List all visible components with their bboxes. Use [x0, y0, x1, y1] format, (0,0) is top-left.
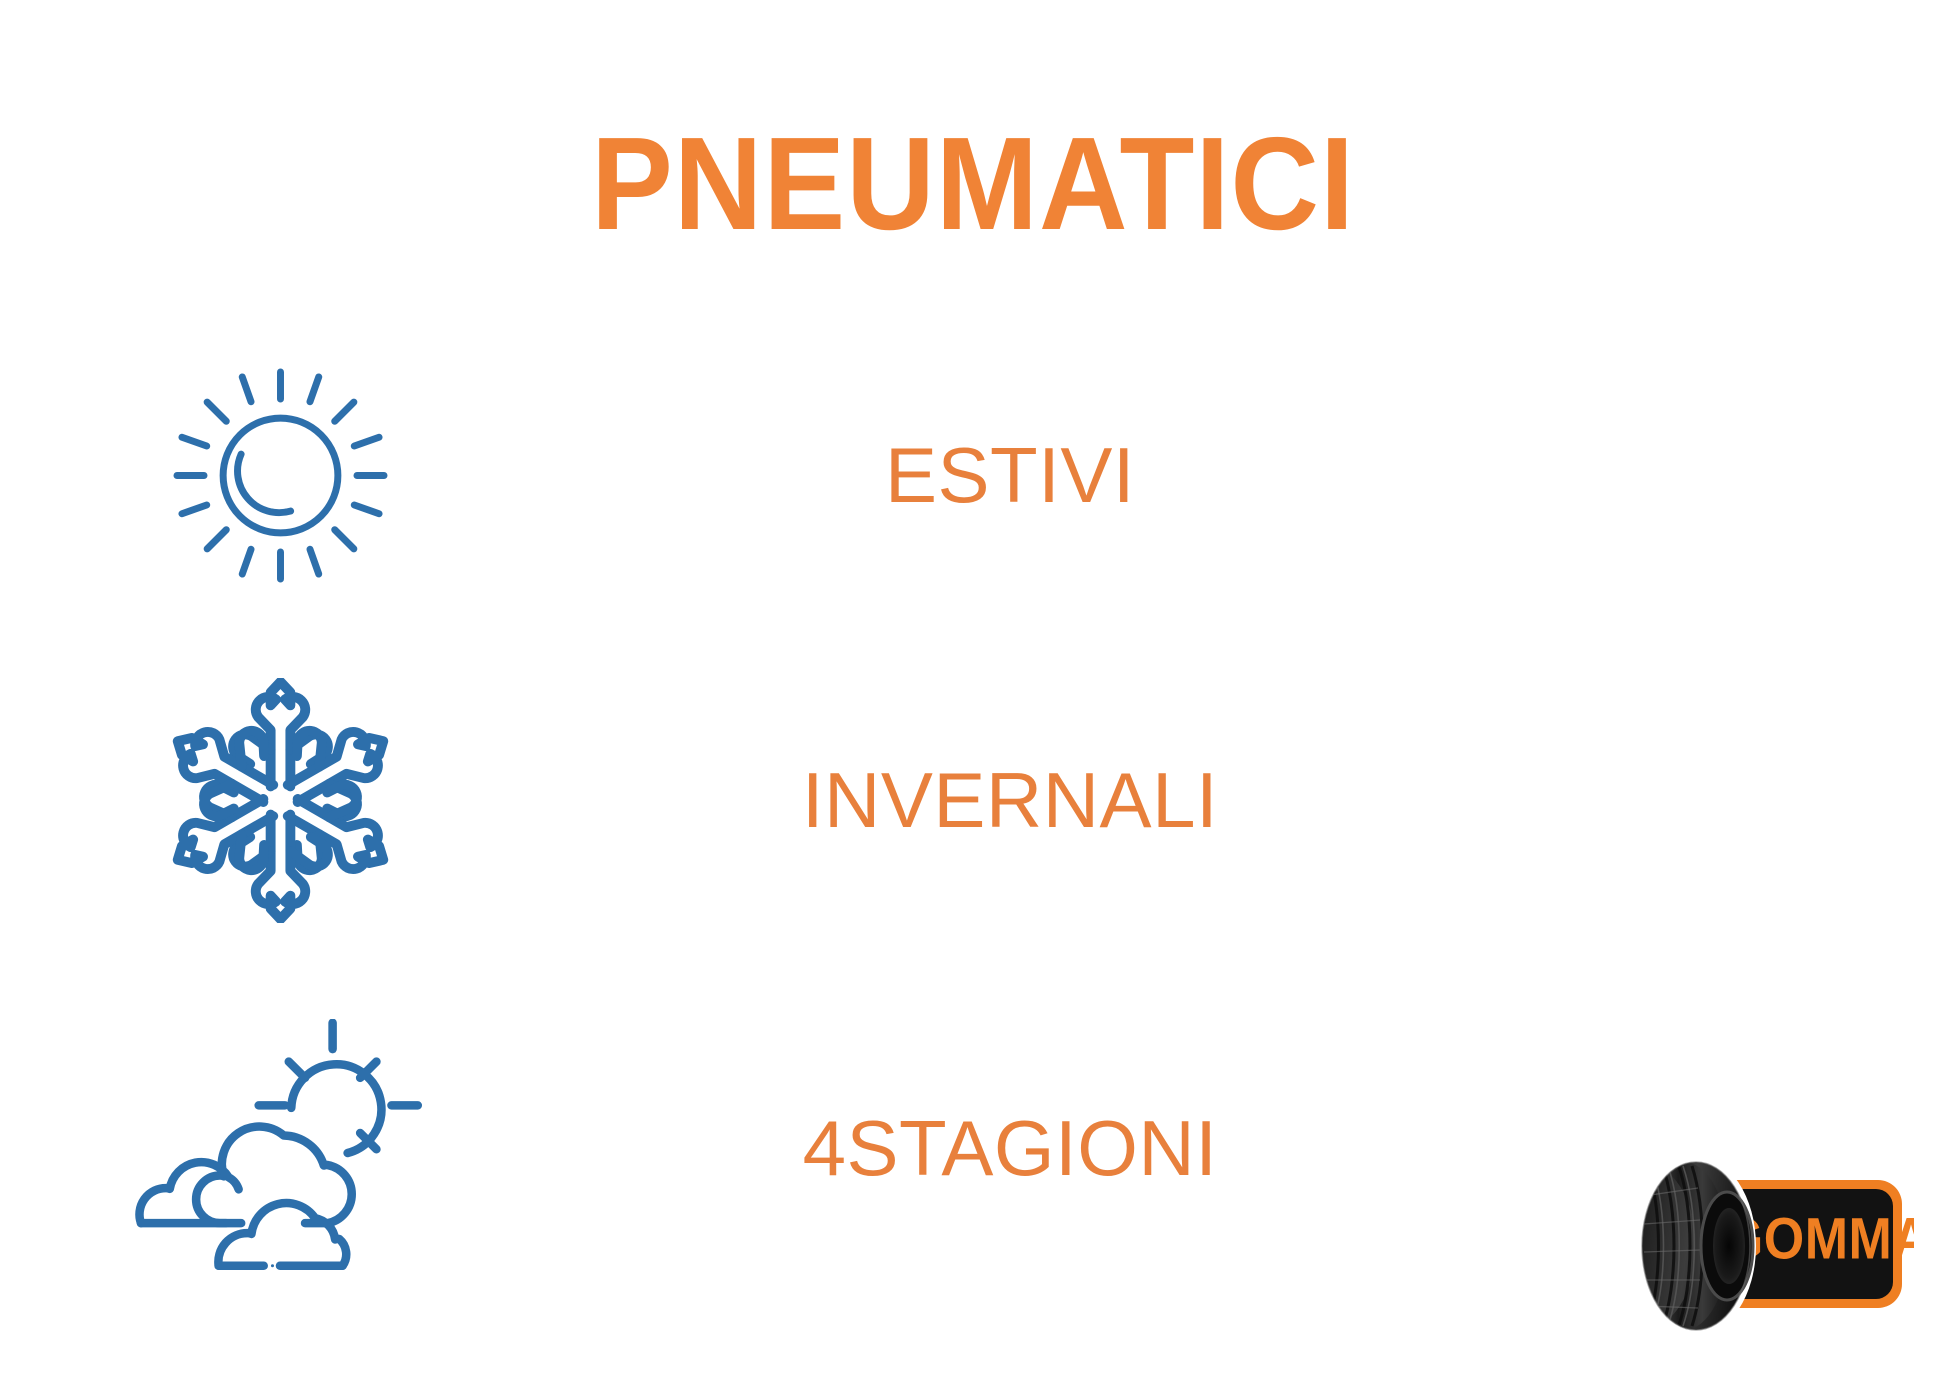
- row-4stagioni: 4STAGIONI: [0, 1015, 1460, 1280]
- row-label-estivi: ESTIVI: [560, 436, 1460, 514]
- row-label-invernali: INVERNALI: [560, 761, 1460, 839]
- sun-icon: [0, 363, 560, 588]
- snowflake-icon: [0, 678, 560, 923]
- row-label-4stagioni: 4STAGIONI: [560, 1109, 1460, 1187]
- row-estivi: ESTIVI: [0, 360, 1460, 590]
- page-title: PNEUMATICI: [68, 118, 1878, 250]
- sun-behind-clouds-icon: [0, 1019, 560, 1277]
- tire-icon: [1636, 1156, 1756, 1336]
- slide-canvas: PNEUMATICI: [0, 0, 1946, 1376]
- regomma-logo[interactable]: REGOMMA: [1622, 1150, 1914, 1342]
- row-invernali: INVERNALI: [0, 675, 1460, 925]
